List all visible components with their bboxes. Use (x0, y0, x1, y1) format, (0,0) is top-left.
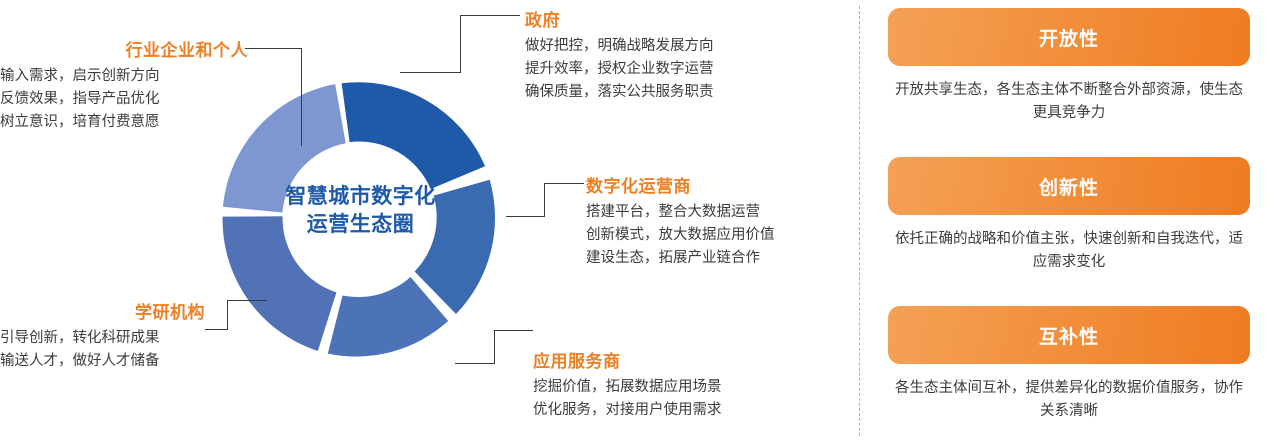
card-innovation: 创新性 依托正确的战略和价值主张，快速创新和自我迭代，适应需求变化 (888, 157, 1250, 274)
callout-government-title: 政府 (525, 6, 714, 31)
card-innovation-desc: 依托正确的战略和价值主张，快速创新和自我迭代，适应需求变化 (888, 228, 1250, 274)
card-openness-title: 开放性 (1039, 24, 1099, 51)
card-complementarity-desc: 各生态主体间互补，提供差异化的数据价值服务，协作关系清晰 (888, 377, 1250, 423)
callout-app-service-provider: 应用服务商 挖掘价值，拓展数据应用场景 优化服务，对接用户使用需求 (533, 347, 722, 422)
callout-government-line-1: 做好把控，明确战略发展方向 (525, 35, 714, 58)
ecosystem-diagram-panel: 智慧城市数字化 运营生态圈 (0, 0, 860, 442)
card-complementarity: 互补性 各生态主体间互补，提供差异化的数据价值服务，协作关系清晰 (888, 306, 1250, 423)
callout-industry-line-2: 反馈效果，指导产品优化 (0, 88, 248, 111)
connector-government (400, 15, 520, 100)
card-innovation-title: 创新性 (1039, 173, 1099, 200)
callout-digital-operator-line-1: 搭建平台，整合大数据运营 (586, 201, 775, 224)
callout-government-line-2: 提升效率，授权企业数字运营 (525, 58, 714, 81)
callout-academic-institution: 学研机构 引导创新，转化科研成果 输送人才，做好人才储备 (0, 298, 205, 373)
callout-academic-institution-line-1: 引导创新，转化科研成果 (0, 327, 205, 350)
callout-digital-operator-line-3: 建设生态，拓展产业链合作 (586, 247, 775, 270)
callout-app-service-provider-line-1: 挖掘价值，拓展数据应用场景 (533, 376, 722, 399)
callout-government-line-3: 确保质量，落实公共服务职责 (525, 81, 714, 104)
callout-app-service-provider-title: 应用服务商 (533, 347, 722, 372)
callout-academic-institution-title: 学研机构 (0, 298, 205, 323)
card-complementarity-pill[interactable]: 互补性 (888, 306, 1250, 364)
connector-industry (245, 48, 310, 148)
card-openness-desc: 开放共享生态，各生态主体不断整合外部资源，使生态更具竞争力 (888, 79, 1250, 125)
callout-academic-institution-line-2: 输送人才，做好人才储备 (0, 350, 205, 373)
infographic-root: 智慧城市数字化 运营生态圈 (0, 0, 1276, 442)
callout-government: 政府 做好把控，明确战略发展方向 提升效率，授权企业数字运营 确保质量，落实公共… (525, 6, 714, 104)
characteristics-panel: 开放性 开放共享生态，各生态主体不断整合外部资源，使生态更具竞争力 创新性 依托… (860, 0, 1276, 442)
center-title-line-2: 运营生态圈 (218, 211, 503, 239)
connector-academic-institution (205, 300, 267, 332)
callout-industry: 行业企业和个人 输入需求，启示创新方向 反馈效果，指导产品优化 树立意识，培育付… (0, 36, 248, 134)
card-openness-pill[interactable]: 开放性 (888, 8, 1250, 66)
callout-industry-title: 行业企业和个人 (0, 36, 248, 61)
connector-digital-operator (506, 183, 584, 223)
card-openness: 开放性 开放共享生态，各生态主体不断整合外部资源，使生态更具竞争力 (888, 8, 1250, 125)
callout-digital-operator-title: 数字化运营商 (586, 172, 775, 197)
card-complementarity-title: 互补性 (1039, 322, 1099, 349)
donut-segment-app-service-provider[interactable] (328, 277, 448, 356)
callout-app-service-provider-line-2: 优化服务，对接用户使用需求 (533, 399, 722, 422)
callout-industry-line-3: 树立意识，培育付费意愿 (0, 111, 248, 134)
callout-digital-operator: 数字化运营商 搭建平台，整合大数据运营 创新模式，放大数据应用价值 建设生态，拓… (586, 172, 775, 270)
center-title-line-1: 智慧城市数字化 (218, 183, 503, 211)
connector-app-service-provider (455, 330, 533, 365)
callout-digital-operator-line-2: 创新模式，放大数据应用价值 (586, 224, 775, 247)
card-innovation-pill[interactable]: 创新性 (888, 157, 1250, 215)
donut-center-title: 智慧城市数字化 运营生态圈 (218, 183, 503, 238)
callout-industry-line-1: 输入需求，启示创新方向 (0, 65, 248, 88)
